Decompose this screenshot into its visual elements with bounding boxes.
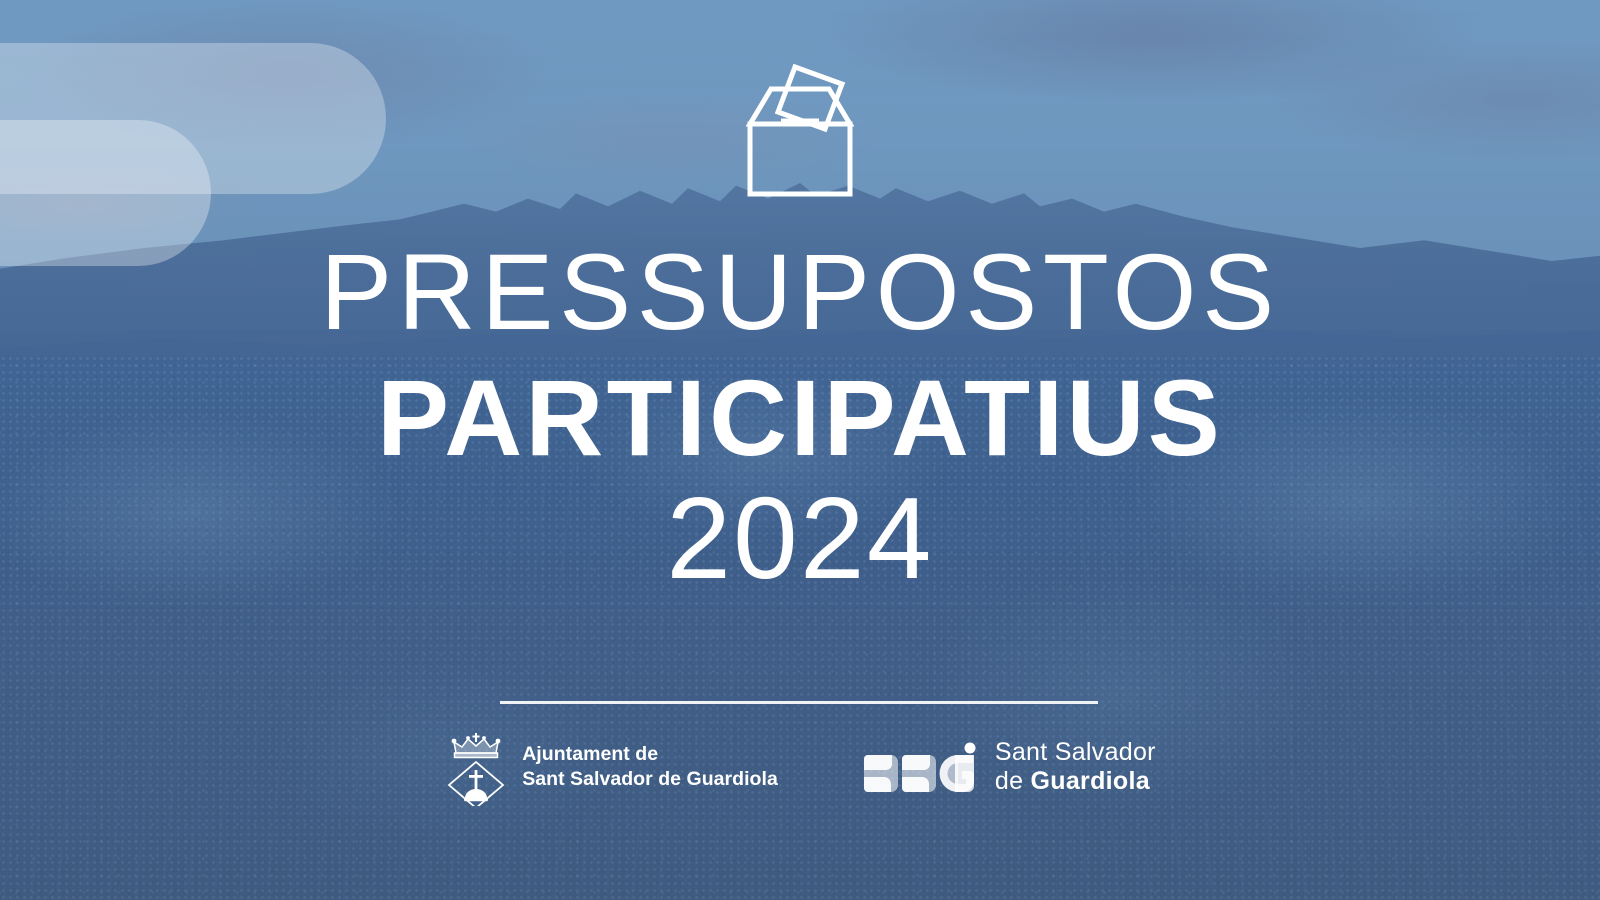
ssg-logo-text: Sant Salvador de Guardiola bbox=[995, 738, 1156, 796]
title-line-1: PRESSUPOSTOS bbox=[0, 238, 1600, 346]
ajuntament-crest-icon bbox=[444, 728, 508, 806]
ssg-text-line-1: Sant Salvador bbox=[995, 738, 1156, 767]
ssg-monogram-icon bbox=[864, 742, 980, 792]
page-title: PRESSUPOSTOS PARTICIPATIUS 2024 bbox=[0, 238, 1600, 596]
ssg-logo: Sant Salvador de Guardiola bbox=[864, 738, 1156, 796]
logo-row: Ajuntament de Sant Salvador de Guardiola bbox=[0, 728, 1600, 806]
ballot-box-icon bbox=[731, 62, 869, 203]
ssg-text-line-2-bold: Guardiola bbox=[1031, 767, 1150, 795]
ajuntament-text-line-2: Sant Salvador de Guardiola bbox=[522, 767, 778, 792]
ajuntament-logo-text: Ajuntament de Sant Salvador de Guardiola bbox=[522, 742, 778, 791]
poster-canvas: PRESSUPOSTOS PARTICIPATIUS 2024 bbox=[0, 0, 1600, 900]
ajuntament-text-line-1: Ajuntament de bbox=[522, 742, 778, 767]
horizontal-rule bbox=[500, 701, 1098, 704]
ajuntament-logo: Ajuntament de Sant Salvador de Guardiola bbox=[444, 728, 778, 806]
ssg-text-line-2-light: de bbox=[995, 767, 1031, 795]
title-line-2: PARTICIPATIUS bbox=[0, 364, 1600, 472]
ssg-text-line-2: de Guardiola bbox=[995, 767, 1156, 796]
title-line-3: 2024 bbox=[0, 480, 1600, 596]
